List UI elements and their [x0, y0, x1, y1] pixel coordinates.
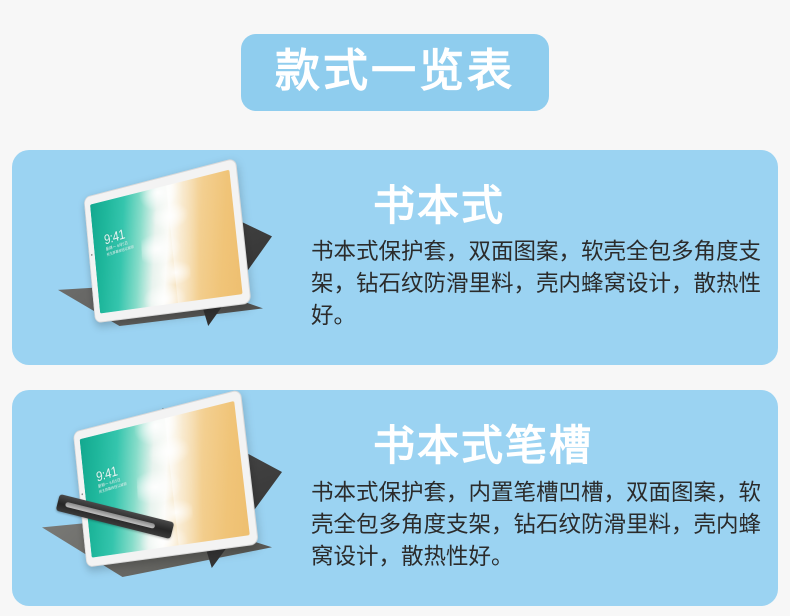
tablet-scene: 9:41 星期一 6月5日 按主屏幕按钮以解锁 [12, 150, 307, 365]
card-description-book: 书本式保护套，双面图案，软壳全包多角度支架，钻石纹防滑里料，壳内蜂窝设计，散热性… [311, 236, 763, 332]
style-card-book-pen-slot[interactable]: 9:41 星期一 6月5日 按主屏幕按钮以解锁 书本式笔槽 书本式保护套，内置笔… [12, 390, 778, 606]
product-image-book-pen-slot: 9:41 星期一 6月5日 按主屏幕按钮以解锁 [12, 390, 307, 606]
style-card-book[interactable]: 9:41 星期一 6月5日 按主屏幕按钮以解锁 书本式 书本式保护套，双面图案，… [12, 150, 778, 365]
card-body-book: 书本式 书本式保护套，双面图案，软壳全包多角度支架，钻石纹防滑里料，壳内蜂窝设计… [307, 183, 778, 332]
lockscreen-widget: 9:41 星期一 6月5日 按主屏幕按钮以解锁 [103, 225, 134, 257]
lockscreen-widget: 9:41 星期一 6月5日 按主屏幕按钮以解锁 [95, 462, 127, 495]
card-heading-book: 书本式 [311, 183, 768, 228]
tablet-device: 9:41 星期一 6月5日 按主屏幕按钮以解锁 [84, 158, 252, 324]
page-title-wrapper: 款式一览表 [0, 34, 790, 111]
card-description-book-pen-slot: 书本式保护套，内置笔槽凹槽，双面图案，软壳全包多角度支架，钻石纹防滑里料，壳内蜂… [311, 477, 763, 573]
card-heading-book-pen-slot: 书本式笔槽 [311, 423, 768, 468]
card-body-book-pen-slot: 书本式笔槽 书本式保护套，内置笔槽凹槽，双面图案，软壳全包多角度支架，钻石纹防滑… [307, 423, 778, 572]
camera-dot-icon [81, 493, 83, 495]
camera-dot-icon [91, 254, 93, 256]
tablet-device: 9:41 星期一 6月5日 按主屏幕按钮以解锁 [73, 390, 259, 567]
page-title: 款式一览表 [275, 47, 515, 94]
product-image-book: 9:41 星期一 6月5日 按主屏幕按钮以解锁 [12, 150, 307, 365]
tablet-scene: 9:41 星期一 6月5日 按主屏幕按钮以解锁 [12, 390, 307, 606]
tablet-screen-wallpaper: 9:41 星期一 6月5日 按主屏幕按钮以解锁 [90, 170, 242, 314]
page-title-banner: 款式一览表 [241, 34, 549, 111]
